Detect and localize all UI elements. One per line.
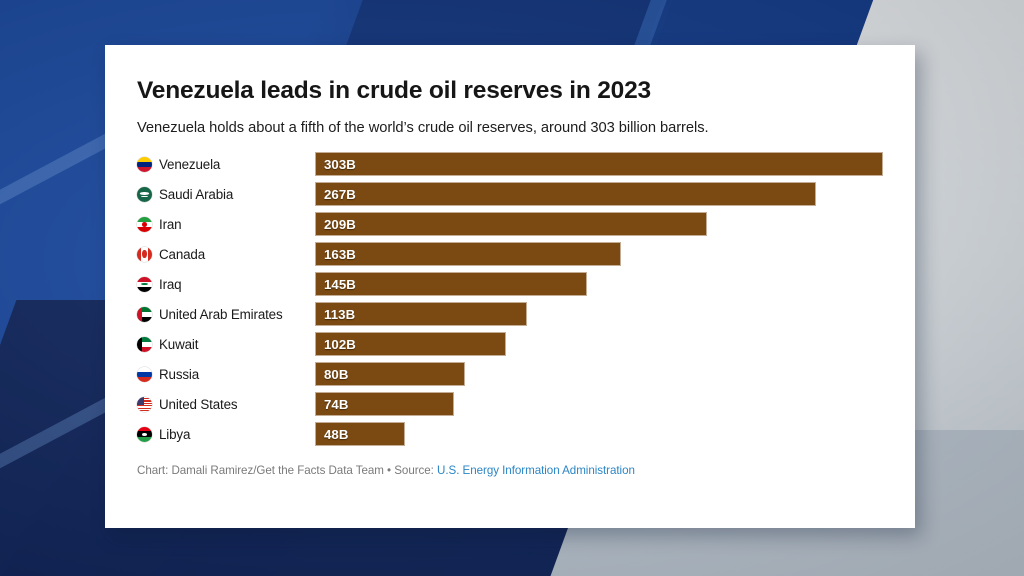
country-name: Saudi Arabia [159,187,233,202]
bar-value-label: 48B [316,427,349,442]
bar-track: 113B [315,302,883,326]
country-name: Venezuela [159,157,220,172]
bar-category-label: Saudi Arabia [137,187,315,202]
flag-iran-icon [137,217,152,232]
source-link[interactable]: U.S. Energy Information Administration [437,464,635,477]
flag-saudi-arabia-icon [137,187,152,202]
bar-value-label: 74B [316,397,349,412]
country-name: Libya [159,427,190,442]
chart-footer: Chart: Damali Ramirez/Get the Facts Data… [137,464,883,477]
bar-category-label: Iraq [137,277,315,292]
bar: 113B [315,302,527,326]
bar-category-label: Canada [137,247,315,262]
flag-uae-icon [137,307,152,322]
bar-row: Iran209B [137,212,883,236]
bar-value-label: 267B [316,187,356,202]
bar: 267B [315,182,816,206]
country-name: Iran [159,217,181,232]
footer-credit-text: Chart: Damali Ramirez/Get the Facts Data… [137,464,437,477]
bar-track: 303B [315,152,883,176]
bar-track: 209B [315,212,883,236]
bar-row: United States74B [137,392,883,416]
bar-track: 163B [315,242,883,266]
bar-row: Russia80B [137,362,883,386]
bar-category-label: Venezuela [137,157,315,172]
bar-value-label: 209B [316,217,356,232]
bar: 145B [315,272,587,296]
bar: 209B [315,212,707,236]
flag-canada-icon [137,247,152,262]
bar-row: Venezuela303B [137,152,883,176]
bar-category-label: Iran [137,217,315,232]
bar-track: 145B [315,272,883,296]
bar-category-label: Kuwait [137,337,315,352]
bar-row: Iraq145B [137,272,883,296]
bar-track: 48B [315,422,883,446]
bar-category-label: United States [137,397,315,412]
bar: 48B [315,422,405,446]
country-name: Kuwait [159,337,198,352]
bar: 303B [315,152,883,176]
bar-track: 74B [315,392,883,416]
bar-track: 102B [315,332,883,356]
bar-value-label: 113B [316,307,355,322]
screenshot-stage: Venezuela leads in crude oil reserves in… [0,0,1024,576]
flag-kuwait-icon [137,337,152,352]
bar-value-label: 80B [316,367,349,382]
bar: 80B [315,362,465,386]
flag-united-states-icon [137,397,152,412]
bar-row: Libya48B [137,422,883,446]
bar: 74B [315,392,454,416]
bar-value-label: 102B [316,337,356,352]
chart-title: Venezuela leads in crude oil reserves in… [137,77,883,105]
bar-row: United Arab Emirates113B [137,302,883,326]
bar-row: Saudi Arabia267B [137,182,883,206]
bar-value-label: 145B [316,277,356,292]
flag-venezuela-icon [137,157,152,172]
bar-category-label: United Arab Emirates [137,307,315,322]
country-name: United States [159,397,237,412]
chart-card-inner: Venezuela leads in crude oil reserves in… [105,45,915,477]
country-name: United Arab Emirates [159,307,283,322]
chart-subtitle: Venezuela holds about a fifth of the wor… [137,119,883,138]
bar-category-label: Libya [137,427,315,442]
bar: 102B [315,332,506,356]
country-name: Russia [159,367,199,382]
bar-value-label: 163B [316,247,356,262]
flag-iraq-icon [137,277,152,292]
bar-row: Canada163B [137,242,883,266]
country-name: Canada [159,247,205,262]
bar-chart: Venezuela303BSaudi Arabia267BIran209BCan… [137,152,883,446]
bar-category-label: Russia [137,367,315,382]
chart-card: Venezuela leads in crude oil reserves in… [105,45,915,528]
bar: 163B [315,242,621,266]
flag-libya-icon [137,427,152,442]
bar-value-label: 303B [316,157,356,172]
country-name: Iraq [159,277,181,292]
bar-row: Kuwait102B [137,332,883,356]
bar-track: 267B [315,182,883,206]
bar-track: 80B [315,362,883,386]
flag-russia-icon [137,367,152,382]
